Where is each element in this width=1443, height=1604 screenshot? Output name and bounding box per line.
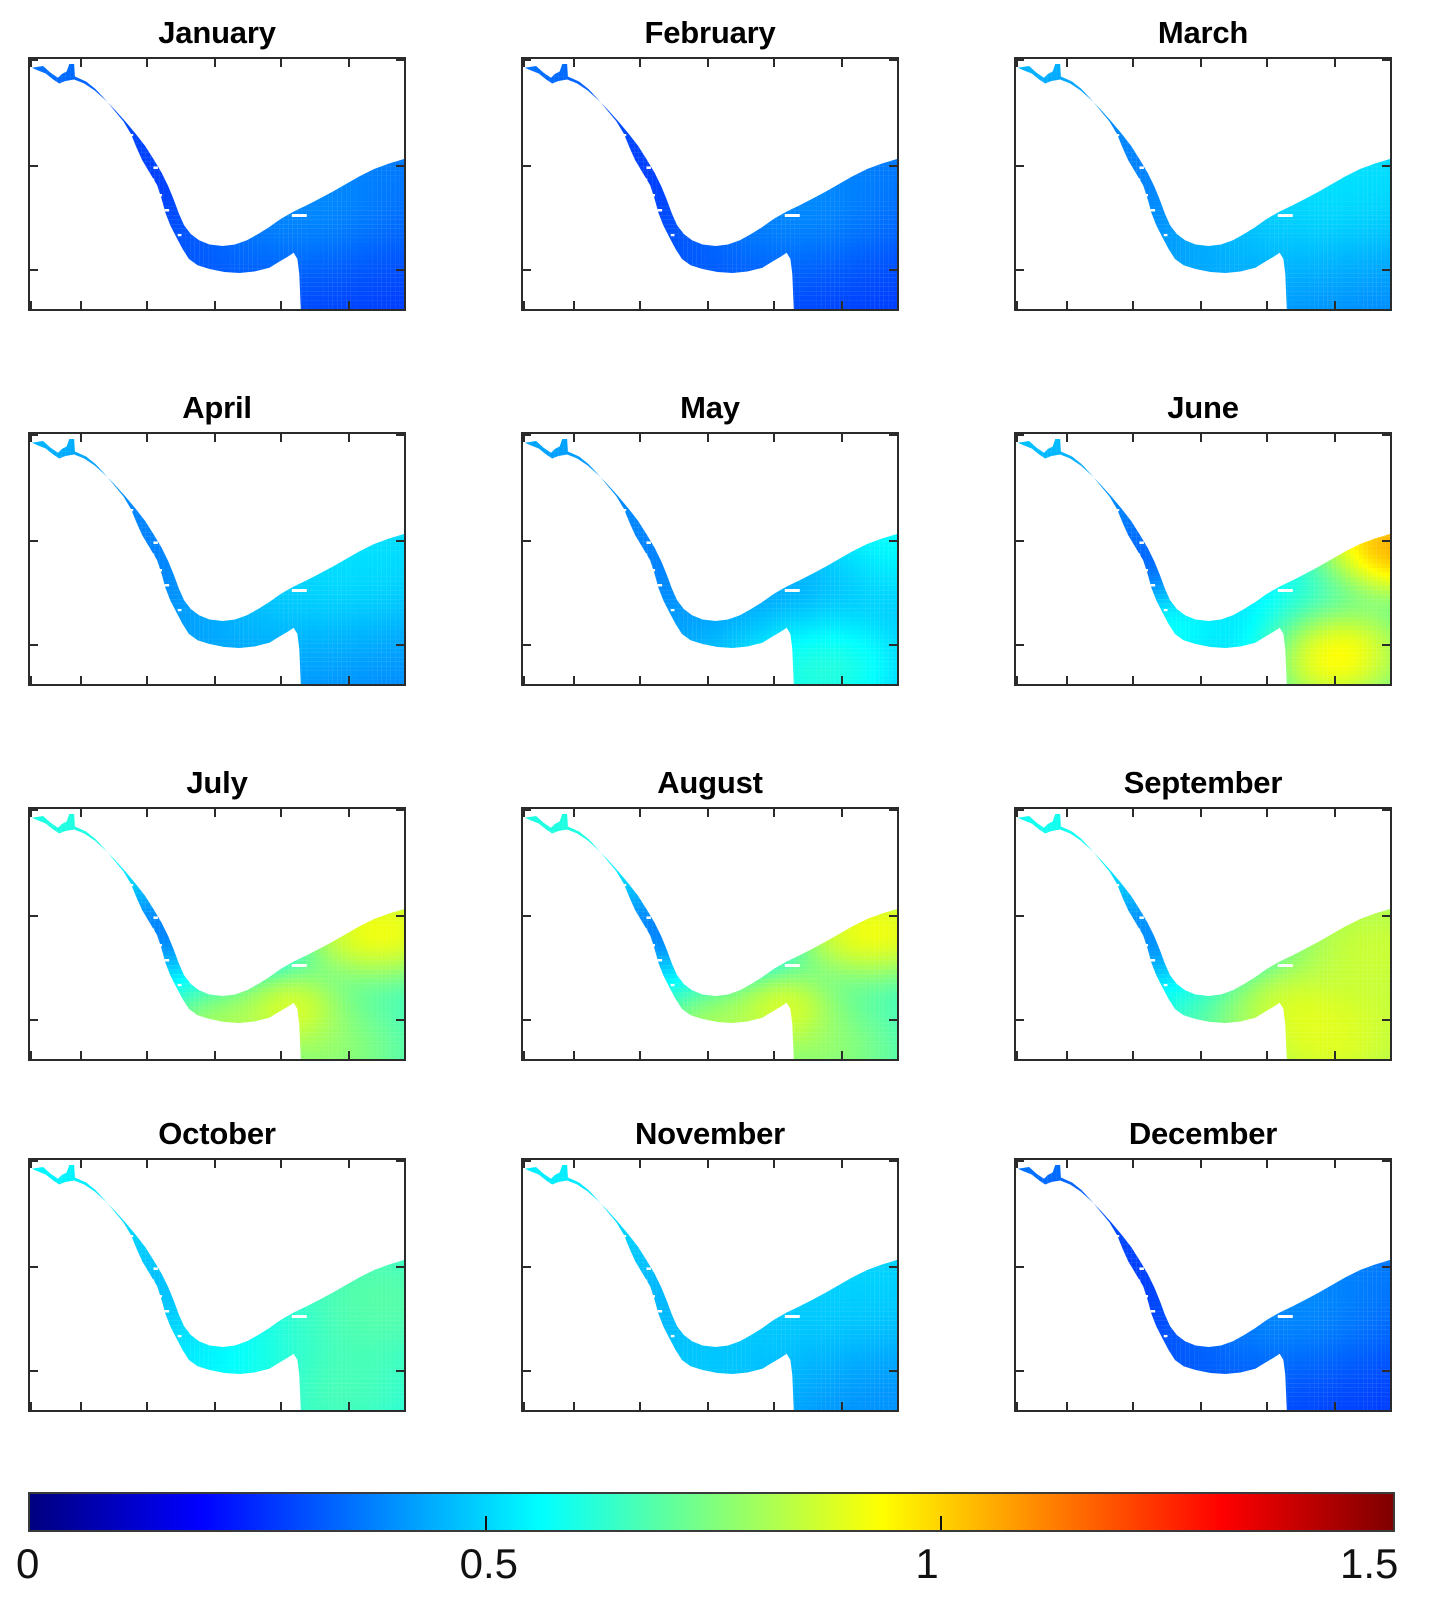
map-raster	[523, 809, 897, 1059]
axis-tick-y	[523, 644, 531, 646]
colorbar-tick	[485, 1516, 487, 1530]
axis-tick-x	[80, 59, 82, 67]
axis-tick-y	[1382, 1411, 1390, 1412]
axis-tick-x	[773, 809, 775, 817]
map-panel-april: April	[28, 388, 406, 686]
colorbar-tick-label: 0.5	[460, 1536, 518, 1592]
axis-tick-x	[146, 434, 148, 442]
axis-tick-x	[639, 59, 641, 67]
axis-tick-x	[841, 1160, 843, 1168]
axis-tick-x	[1132, 59, 1134, 67]
axis-tick-y	[889, 685, 897, 686]
axis-tick-x	[146, 1402, 148, 1410]
map-panel-august: August	[521, 763, 899, 1061]
axis-tick-x	[1132, 676, 1134, 684]
axis-tick-y	[1382, 1370, 1390, 1372]
axis-tick-y	[1016, 269, 1024, 271]
axis-tick-x	[80, 1051, 82, 1059]
axis-tick-y	[396, 1160, 404, 1162]
axis-tick-x	[573, 1402, 575, 1410]
axis-tick-x	[1391, 434, 1392, 442]
panel-title: April	[28, 388, 406, 428]
axis-tick-y	[1016, 1019, 1024, 1021]
axis-tick-y	[1016, 644, 1024, 646]
axis-tick-y	[396, 165, 404, 167]
axis-tick-x	[80, 434, 82, 442]
axis-tick-y	[1016, 165, 1024, 167]
axis-tick-x	[639, 301, 641, 309]
axis-tick-x	[841, 59, 843, 67]
axis-tick-x	[773, 676, 775, 684]
axis-tick-x	[405, 1051, 406, 1059]
panel-title: February	[521, 13, 899, 53]
axis-tick-x	[214, 1160, 216, 1168]
map-axes	[28, 432, 406, 686]
axis-tick-x	[348, 1160, 350, 1168]
axis-tick-y	[396, 540, 404, 542]
axis-tick-y	[523, 434, 531, 436]
axis-tick-x	[30, 1402, 32, 1410]
map-axes	[28, 807, 406, 1061]
axis-tick-x	[707, 301, 709, 309]
axis-tick-x	[639, 434, 641, 442]
colorbar-tick-label: 1.5	[1340, 1536, 1398, 1592]
axis-tick-x	[1066, 676, 1068, 684]
axis-tick-x	[1391, 301, 1392, 309]
panel-title: December	[1014, 1114, 1392, 1154]
axis-tick-y	[1382, 685, 1390, 686]
axis-tick-y	[30, 915, 38, 917]
axis-tick-x	[146, 809, 148, 817]
axis-tick-y	[30, 310, 38, 311]
axis-tick-y	[1382, 1266, 1390, 1268]
axis-tick-x	[841, 1051, 843, 1059]
map-axes	[1014, 807, 1392, 1061]
axis-tick-x	[898, 676, 899, 684]
map-axes	[28, 57, 406, 311]
axis-tick-x	[214, 59, 216, 67]
axis-tick-x	[280, 1402, 282, 1410]
axis-tick-x	[1066, 809, 1068, 817]
axis-tick-y	[30, 644, 38, 646]
axis-tick-x	[773, 59, 775, 67]
axis-tick-y	[523, 269, 531, 271]
axis-tick-y	[889, 915, 897, 917]
axis-tick-x	[146, 301, 148, 309]
axis-tick-y	[30, 165, 38, 167]
axis-tick-y	[1016, 1411, 1024, 1412]
axis-tick-x	[898, 434, 899, 442]
axis-tick-x	[707, 676, 709, 684]
panel-grid: JanuaryFebruaryMarchAprilMayJuneJulyAugu…	[0, 0, 1443, 1440]
map-panel-july: July	[28, 763, 406, 1061]
axis-tick-y	[523, 165, 531, 167]
axis-tick-x	[1200, 676, 1202, 684]
axis-tick-y	[396, 269, 404, 271]
axis-tick-x	[1200, 301, 1202, 309]
axis-tick-y	[523, 1370, 531, 1372]
axis-tick-y	[889, 809, 897, 811]
axis-tick-x	[80, 1160, 82, 1168]
axis-tick-y	[523, 685, 531, 686]
axis-tick-y	[396, 809, 404, 811]
axis-tick-x	[1334, 676, 1336, 684]
axis-tick-x	[639, 1402, 641, 1410]
axis-tick-x	[1016, 301, 1018, 309]
axis-tick-x	[1266, 434, 1268, 442]
colorbar-tick-labels: 00.511.5	[0, 1536, 1443, 1596]
map-axes	[521, 432, 899, 686]
axis-tick-x	[573, 59, 575, 67]
axis-tick-y	[30, 1370, 38, 1372]
axis-tick-x	[1132, 1051, 1134, 1059]
axis-tick-x	[707, 1160, 709, 1168]
axis-tick-x	[523, 676, 525, 684]
axis-tick-x	[1266, 301, 1268, 309]
axis-tick-y	[889, 310, 897, 311]
axis-tick-x	[639, 1051, 641, 1059]
colorbar-tick-label: 1	[915, 1536, 938, 1592]
map-panel-december: December	[1014, 1114, 1392, 1412]
axis-tick-y	[30, 269, 38, 271]
axis-tick-x	[1334, 1160, 1336, 1168]
axis-tick-y	[396, 59, 404, 61]
map-axes	[28, 1158, 406, 1412]
map-raster	[1016, 59, 1390, 309]
axis-tick-y	[1382, 165, 1390, 167]
axis-tick-y	[889, 1160, 897, 1162]
axis-tick-y	[396, 1060, 404, 1061]
axis-tick-y	[889, 540, 897, 542]
panel-title: January	[28, 13, 406, 53]
axis-tick-y	[523, 809, 531, 811]
axis-tick-x	[639, 676, 641, 684]
map-raster	[523, 59, 897, 309]
axis-tick-x	[707, 434, 709, 442]
axis-tick-x	[1066, 301, 1068, 309]
axis-tick-x	[30, 301, 32, 309]
axis-tick-x	[1334, 301, 1336, 309]
map-raster	[1016, 1160, 1390, 1410]
axis-tick-y	[30, 809, 38, 811]
axis-tick-y	[30, 1160, 38, 1162]
axis-tick-x	[1266, 809, 1268, 817]
map-panel-november: November	[521, 1114, 899, 1412]
axis-tick-x	[348, 809, 350, 817]
axis-tick-y	[1382, 540, 1390, 542]
map-raster	[30, 434, 404, 684]
axis-tick-x	[80, 676, 82, 684]
panel-title: October	[28, 1114, 406, 1154]
axis-tick-y	[1016, 1160, 1024, 1162]
axis-tick-y	[889, 644, 897, 646]
axis-tick-x	[1266, 1160, 1268, 1168]
axis-tick-x	[30, 676, 32, 684]
axis-tick-y	[30, 434, 38, 436]
panel-title: September	[1014, 763, 1392, 803]
axis-tick-y	[1382, 1019, 1390, 1021]
axis-tick-x	[405, 1402, 406, 1410]
axis-tick-x	[280, 301, 282, 309]
axis-tick-x	[214, 1402, 216, 1410]
axis-tick-x	[573, 1051, 575, 1059]
axis-tick-x	[405, 1160, 406, 1168]
axis-tick-x	[773, 1051, 775, 1059]
axis-tick-y	[1016, 1060, 1024, 1061]
axis-tick-y	[523, 1411, 531, 1412]
axis-tick-y	[523, 59, 531, 61]
axis-tick-x	[1200, 1402, 1202, 1410]
axis-tick-y	[396, 1019, 404, 1021]
axis-tick-y	[30, 59, 38, 61]
axis-tick-y	[30, 1411, 38, 1412]
axis-tick-y	[523, 1160, 531, 1162]
axis-tick-x	[1200, 809, 1202, 817]
axis-tick-y	[396, 1370, 404, 1372]
map-panel-june: June	[1014, 388, 1392, 686]
axis-tick-x	[1066, 1160, 1068, 1168]
axis-tick-y	[1382, 915, 1390, 917]
axis-tick-x	[841, 676, 843, 684]
colorbar-section: 00.511.5	[0, 1440, 1443, 1604]
axis-tick-y	[523, 1266, 531, 1268]
axis-tick-x	[280, 434, 282, 442]
axis-tick-y	[1382, 269, 1390, 271]
axis-tick-x	[573, 434, 575, 442]
axis-tick-x	[1200, 1160, 1202, 1168]
axis-tick-x	[146, 676, 148, 684]
axis-tick-x	[639, 1160, 641, 1168]
axis-tick-x	[898, 1051, 899, 1059]
axis-tick-y	[30, 1060, 38, 1061]
axis-tick-x	[214, 301, 216, 309]
axis-tick-y	[889, 1370, 897, 1372]
axis-tick-x	[80, 301, 82, 309]
axis-tick-x	[1266, 1402, 1268, 1410]
axis-tick-x	[773, 434, 775, 442]
map-panel-october: October	[28, 1114, 406, 1412]
axis-tick-x	[573, 301, 575, 309]
map-axes	[521, 1158, 899, 1412]
axis-tick-y	[889, 1266, 897, 1268]
axis-tick-x	[1334, 1402, 1336, 1410]
axis-tick-y	[523, 1019, 531, 1021]
axis-tick-x	[898, 1402, 899, 1410]
axis-tick-x	[146, 59, 148, 67]
axis-tick-y	[889, 434, 897, 436]
panel-title: July	[28, 763, 406, 803]
axis-tick-x	[280, 676, 282, 684]
axis-tick-y	[889, 59, 897, 61]
axis-tick-x	[348, 1402, 350, 1410]
axis-tick-x	[1391, 809, 1392, 817]
axis-tick-x	[146, 1051, 148, 1059]
axis-tick-y	[30, 1019, 38, 1021]
axis-tick-y	[889, 1060, 897, 1061]
axis-tick-y	[889, 165, 897, 167]
axis-tick-y	[1016, 1266, 1024, 1268]
axis-tick-x	[348, 301, 350, 309]
axis-tick-x	[1334, 1051, 1336, 1059]
axis-tick-y	[523, 540, 531, 542]
axis-tick-x	[1200, 1051, 1202, 1059]
map-axes	[521, 57, 899, 311]
axis-tick-y	[1016, 809, 1024, 811]
axis-tick-x	[280, 809, 282, 817]
axis-tick-x	[1016, 676, 1018, 684]
axis-tick-x	[405, 301, 406, 309]
axis-tick-y	[523, 1060, 531, 1061]
axis-tick-y	[1016, 310, 1024, 311]
axis-tick-y	[1382, 1060, 1390, 1061]
axis-tick-y	[889, 1019, 897, 1021]
axis-tick-x	[898, 301, 899, 309]
axis-tick-x	[898, 1160, 899, 1168]
axis-tick-x	[523, 301, 525, 309]
axis-tick-x	[1132, 809, 1134, 817]
panel-title: November	[521, 1114, 899, 1154]
colorbar	[28, 1492, 1395, 1532]
axis-tick-x	[1066, 1051, 1068, 1059]
axis-tick-x	[30, 1051, 32, 1059]
axis-tick-y	[1382, 1160, 1390, 1162]
axis-tick-x	[639, 809, 641, 817]
axis-tick-y	[1382, 310, 1390, 311]
axis-tick-x	[1334, 809, 1336, 817]
axis-tick-y	[1382, 59, 1390, 61]
axis-tick-y	[1382, 809, 1390, 811]
panel-title: March	[1014, 13, 1392, 53]
colorbar-tick-label: 0	[16, 1536, 39, 1592]
axis-tick-x	[1016, 1051, 1018, 1059]
map-raster	[30, 1160, 404, 1410]
axis-tick-x	[214, 676, 216, 684]
axis-tick-y	[889, 1411, 897, 1412]
axis-tick-x	[80, 1402, 82, 1410]
axis-tick-y	[523, 310, 531, 311]
axis-tick-y	[396, 1411, 404, 1412]
panel-title: May	[521, 388, 899, 428]
axis-tick-x	[280, 1051, 282, 1059]
axis-tick-x	[1266, 676, 1268, 684]
axis-tick-x	[214, 1051, 216, 1059]
axis-tick-x	[707, 59, 709, 67]
map-panel-march: March	[1014, 13, 1392, 311]
axis-tick-y	[396, 644, 404, 646]
axis-tick-x	[841, 1402, 843, 1410]
map-raster	[30, 59, 404, 309]
axis-tick-x	[1132, 1160, 1134, 1168]
axis-tick-x	[348, 1051, 350, 1059]
axis-tick-x	[405, 434, 406, 442]
map-axes	[1014, 432, 1392, 686]
axis-tick-x	[214, 809, 216, 817]
axis-tick-x	[1391, 676, 1392, 684]
axis-tick-x	[573, 1160, 575, 1168]
map-axes	[521, 807, 899, 1061]
axis-tick-x	[523, 1402, 525, 1410]
map-panel-september: September	[1014, 763, 1392, 1061]
axis-tick-y	[396, 310, 404, 311]
axis-tick-x	[214, 434, 216, 442]
axis-tick-x	[405, 809, 406, 817]
map-raster	[30, 809, 404, 1059]
axis-tick-x	[405, 59, 406, 67]
axis-tick-x	[1132, 434, 1134, 442]
map-axes	[1014, 1158, 1392, 1412]
axis-tick-x	[573, 676, 575, 684]
map-raster	[1016, 809, 1390, 1059]
axis-tick-y	[396, 434, 404, 436]
axis-tick-x	[405, 676, 406, 684]
axis-tick-x	[841, 301, 843, 309]
axis-tick-x	[80, 809, 82, 817]
axis-tick-x	[146, 1160, 148, 1168]
axis-tick-x	[573, 809, 575, 817]
axis-tick-x	[1132, 1402, 1134, 1410]
axis-tick-x	[1334, 59, 1336, 67]
map-panel-february: February	[521, 13, 899, 311]
axis-tick-y	[30, 540, 38, 542]
map-panel-may: May	[521, 388, 899, 686]
axis-tick-y	[30, 1266, 38, 1268]
axis-tick-x	[773, 301, 775, 309]
axis-tick-y	[396, 685, 404, 686]
map-raster	[523, 1160, 897, 1410]
colorbar-tick	[940, 1516, 942, 1530]
axis-tick-x	[773, 1402, 775, 1410]
colorbar-gradient	[30, 1494, 1393, 1530]
map-raster	[523, 434, 897, 684]
axis-tick-x	[1200, 59, 1202, 67]
axis-tick-y	[1016, 1370, 1024, 1372]
axis-tick-x	[898, 59, 899, 67]
axis-tick-x	[707, 809, 709, 817]
axis-tick-y	[1016, 434, 1024, 436]
axis-tick-x	[1066, 434, 1068, 442]
axis-tick-x	[1066, 59, 1068, 67]
axis-tick-x	[1132, 301, 1134, 309]
axis-tick-y	[1016, 685, 1024, 686]
axis-tick-y	[396, 1266, 404, 1268]
map-axes	[1014, 57, 1392, 311]
axis-tick-x	[348, 434, 350, 442]
axis-tick-x	[773, 1160, 775, 1168]
axis-tick-y	[1016, 915, 1024, 917]
panel-title: June	[1014, 388, 1392, 428]
axis-tick-x	[1391, 1402, 1392, 1410]
axis-tick-x	[1066, 1402, 1068, 1410]
axis-tick-y	[1382, 644, 1390, 646]
axis-tick-x	[1200, 434, 1202, 442]
map-raster	[1016, 434, 1390, 684]
axis-tick-x	[841, 434, 843, 442]
panel-title: August	[521, 763, 899, 803]
axis-tick-y	[1016, 540, 1024, 542]
axis-tick-x	[1016, 1402, 1018, 1410]
axis-tick-y	[1382, 434, 1390, 436]
axis-tick-x	[523, 1051, 525, 1059]
axis-tick-x	[898, 809, 899, 817]
axis-tick-x	[841, 809, 843, 817]
axis-tick-x	[280, 1160, 282, 1168]
axis-tick-y	[889, 269, 897, 271]
axis-tick-x	[707, 1402, 709, 1410]
axis-tick-x	[1391, 1051, 1392, 1059]
axis-tick-x	[1266, 1051, 1268, 1059]
axis-tick-y	[523, 915, 531, 917]
axis-tick-x	[707, 1051, 709, 1059]
